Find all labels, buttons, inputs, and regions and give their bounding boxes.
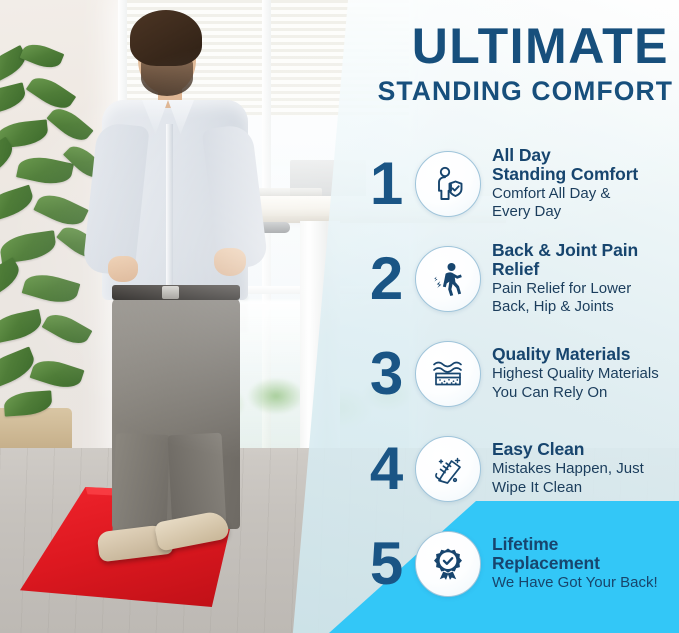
feature-rank: 3	[360, 344, 412, 404]
feature-title-line-2: Replacement	[492, 554, 679, 573]
feature-desc-line-1: Mistakes Happen, Just	[492, 461, 679, 478]
foam-layers-icon	[415, 341, 481, 407]
feature-desc-line-2: You Can Rely On	[492, 385, 679, 402]
standing-man	[62, 4, 277, 600]
hair	[130, 10, 202, 66]
feature-text: Back & Joint Pain Relief Pain Relief for…	[488, 241, 679, 316]
award-badge-check-icon	[415, 531, 481, 597]
feature-row: 3 Quality Materials	[360, 326, 679, 421]
feature-row: 5 Lifetime Replacement We Have Got Your …	[360, 516, 679, 611]
feature-title-line-1: Quality Materials	[492, 345, 679, 364]
feature-text: Quality Materials Highest Quality Materi…	[488, 345, 679, 401]
left-hand	[108, 256, 138, 282]
feature-list: 1 All Day Standing Comfort Comfort All D…	[360, 136, 679, 611]
feature-desc-line-1: We Have Got Your Back!	[492, 575, 679, 592]
feature-rank: 2	[360, 249, 412, 309]
feature-rank: 5	[360, 534, 412, 594]
feature-desc-line-1: Pain Relief for Lower	[492, 281, 679, 298]
product-infographic: ULTIMATE STANDING COMFORT 1 All Day Stan…	[0, 0, 679, 633]
feature-desc-line-2: Back, Hip & Joints	[492, 299, 679, 316]
feature-title-line-1: All Day	[492, 146, 679, 165]
belt-buckle	[162, 286, 179, 299]
feature-rank: 1	[360, 154, 412, 214]
feature-title-line-1: Easy Clean	[492, 440, 679, 459]
headline-line-2: STANDING COMFORT	[300, 78, 679, 105]
feature-text: All Day Standing Comfort Comfort All Day…	[488, 146, 679, 221]
feature-title-line-1: Back & Joint Pain	[492, 241, 679, 260]
feature-row: 1 All Day Standing Comfort Comfort All D…	[360, 136, 679, 231]
feature-title-line-2: Standing Comfort	[492, 165, 679, 184]
feature-rank: 4	[360, 439, 412, 499]
feature-desc-line-2: Every Day	[492, 204, 679, 221]
right-hand	[214, 248, 246, 276]
feature-desc-line-2: Wipe It Clean	[492, 480, 679, 497]
feature-desc-line-1: Highest Quality Materials	[492, 366, 679, 383]
back-pain-person-icon	[415, 246, 481, 312]
person-shield-icon	[415, 151, 481, 217]
feature-title-line-2: Relief	[492, 260, 679, 279]
hand-wipe-sparkle-icon	[415, 436, 481, 502]
feature-text: Lifetime Replacement We Have Got Your Ba…	[488, 535, 679, 592]
feature-desc-line-1: Comfort All Day &	[492, 186, 679, 203]
shirt-placket	[166, 124, 173, 292]
headline-line-1: ULTIMATE	[300, 22, 679, 71]
feature-text: Easy Clean Mistakes Happen, Just Wipe It…	[488, 440, 679, 496]
headline: ULTIMATE STANDING COMFORT	[300, 22, 679, 105]
feature-row: 2 Back & Joint Pain Relief Pain Relief f…	[360, 231, 679, 326]
feature-title-line-1: Lifetime	[492, 535, 679, 554]
feature-row: 4 Easy Clean Mistakes Happen, Just Wipe …	[360, 421, 679, 516]
